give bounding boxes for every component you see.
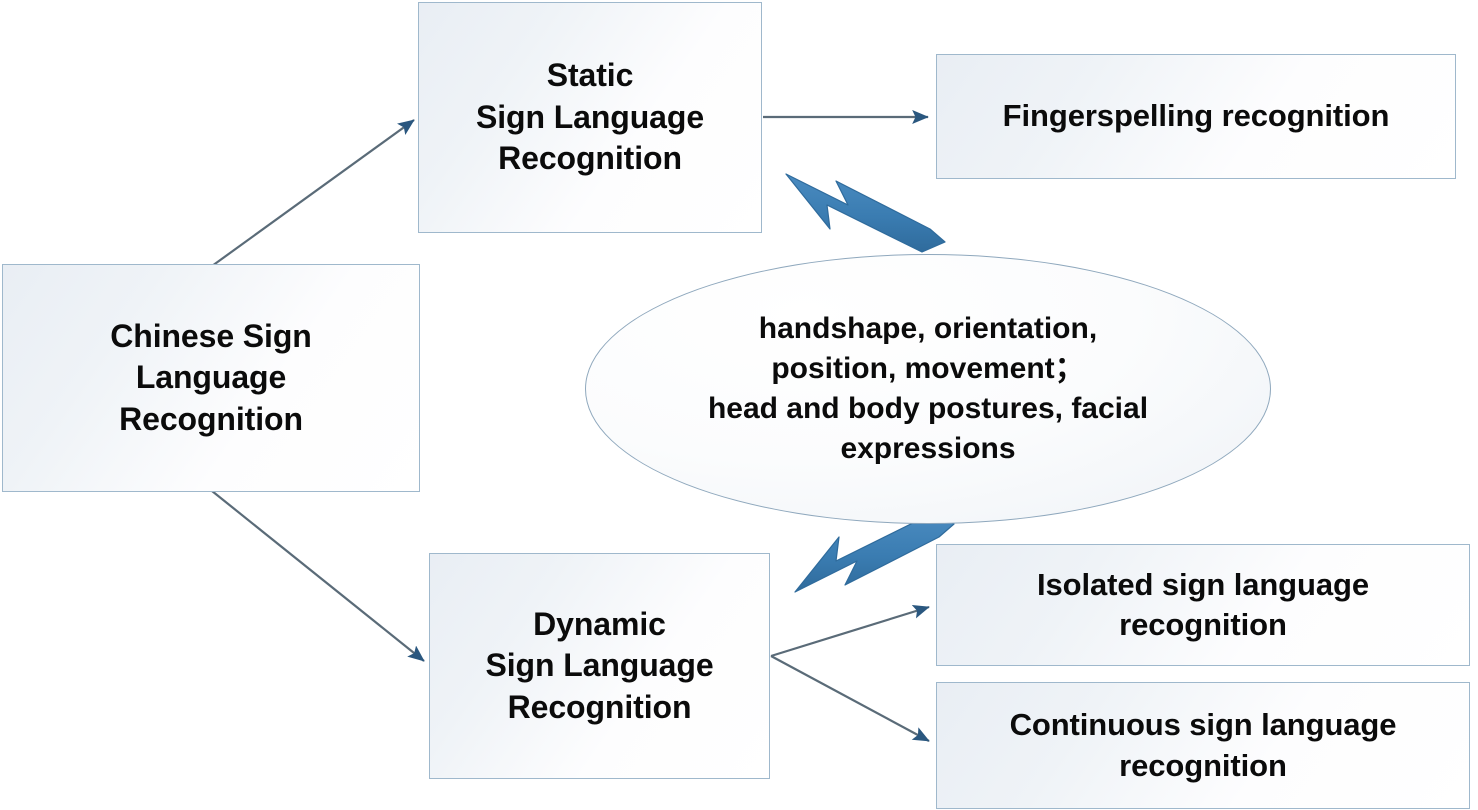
node-features-line-2: position, movement； [708, 349, 1148, 389]
node-chinese-sign-language-recognition[interactable]: Chinese Sign Language Recognition [2, 264, 420, 492]
diagram-canvas: Chinese Sign Language Recognition Static… [0, 0, 1478, 810]
edge-features-to-dynamic [795, 514, 954, 592]
node-features-line-3: head and body postures, facial [708, 389, 1148, 429]
edge-dynamic-to-continuous [771, 656, 929, 741]
node-chinese-label: Chinese Sign Language Recognition [3, 316, 419, 441]
node-dynamic-label: Dynamic Sign Language Recognition [430, 604, 769, 729]
node-fingerspelling-recognition[interactable]: Fingerspelling recognition [936, 54, 1456, 179]
node-dynamic-line-2: Sign Language [436, 645, 763, 687]
edge-chinese-to-static [212, 120, 414, 266]
node-isolated-label: Isolated sign language recognition [937, 565, 1469, 646]
edge-chinese-to-dynamic [212, 491, 424, 661]
node-isolated-sign-language-recognition[interactable]: Isolated sign language recognition [936, 544, 1470, 666]
node-dynamic-line-1: Dynamic [436, 604, 763, 646]
node-dynamic-line-3: Recognition [436, 687, 763, 729]
edge-dynamic-to-isolated [771, 607, 929, 656]
node-sign-language-features-ellipse[interactable]: handshape, orientation, position, moveme… [585, 254, 1271, 524]
edge-features-to-static [786, 174, 945, 252]
node-isolated-line-1: Isolated sign language [943, 565, 1463, 605]
node-static-sign-language-recognition[interactable]: Static Sign Language Recognition [418, 2, 762, 233]
node-static-line-1: Static [425, 55, 755, 97]
node-fingerspelling-line-1: Fingerspelling recognition [943, 96, 1449, 136]
node-fingerspelling-label: Fingerspelling recognition [937, 96, 1455, 136]
node-isolated-line-2: recognition [943, 605, 1463, 645]
node-chinese-line-3: Recognition [9, 399, 413, 441]
node-features-label: handshape, orientation, position, moveme… [708, 309, 1148, 470]
node-continuous-line-2: recognition [943, 746, 1463, 786]
node-static-line-3: Recognition [425, 138, 755, 180]
node-chinese-line-2: Language [9, 357, 413, 399]
node-continuous-line-1: Continuous sign language [943, 705, 1463, 745]
node-chinese-line-1: Chinese Sign [9, 316, 413, 358]
node-dynamic-sign-language-recognition[interactable]: Dynamic Sign Language Recognition [429, 553, 770, 779]
node-features-line-4: expressions [708, 429, 1148, 469]
node-continuous-sign-language-recognition[interactable]: Continuous sign language recognition [936, 682, 1470, 809]
node-continuous-label: Continuous sign language recognition [937, 705, 1469, 786]
node-static-label: Static Sign Language Recognition [419, 55, 761, 180]
node-features-line-1: handshape, orientation, [708, 309, 1148, 349]
node-static-line-2: Sign Language [425, 97, 755, 139]
